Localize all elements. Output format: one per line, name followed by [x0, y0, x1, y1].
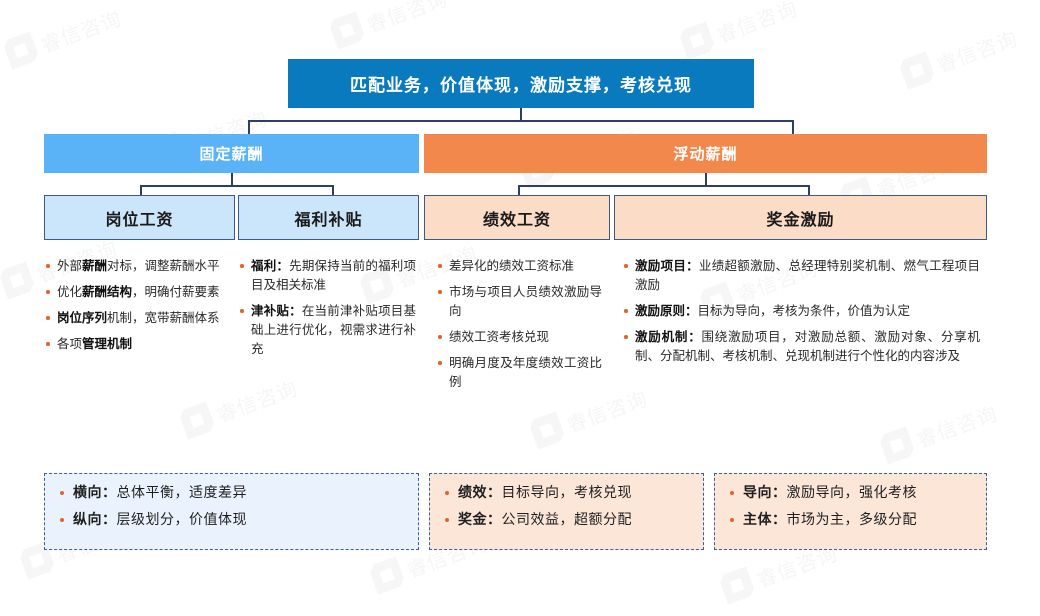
level1-title-box[interactable]: 匹配业务，价值体现，激励支撑，考核兑现 [288, 59, 754, 108]
org-chart-canvas: 睿信咨询 睿信咨询 睿信咨询 睿信咨询 睿信咨询 睿信咨询 睿信咨询 睿信咨询 … [0, 0, 1040, 616]
connector-l1-stem [520, 108, 522, 120]
level3-label-bonus-incentive: 奖金激励 [766, 206, 834, 230]
summary-item: 奖金：公司效益，超额分配 [442, 511, 691, 529]
ruixin-logo-icon [878, 426, 916, 464]
connector-fixed-stem [231, 173, 233, 185]
level2-box-float[interactable]: 浮动薪酬 [424, 134, 987, 173]
level3-box-post-salary[interactable]: 岗位工资 [44, 195, 235, 240]
detail-item: 绩效工资考核兑现 [436, 327, 602, 346]
connector-l1-bar [248, 120, 793, 122]
detail-column-bonus-incentive: 激励项目：业绩超额激励、总经理特别奖机制、燃气工程项目激励激励原则：目标为导向，… [622, 256, 980, 372]
ruixin-logo-icon [368, 556, 406, 594]
ruixin-logo-icon [178, 401, 216, 439]
watermark: 睿信咨询 [878, 396, 1002, 469]
summary-item: 导向：激励导向，强化考核 [727, 484, 974, 502]
detail-item: 差异化的绩效工资标准 [436, 256, 602, 275]
detail-item: 外部薪酬对标，调整薪酬水平 [44, 256, 222, 275]
detail-item: 激励项目：业绩超额激励、总经理特别奖机制、燃气工程项目激励 [622, 256, 980, 294]
detail-item: 激励机制：围绕激励项目，对激励总额、激励对象、分享机制、分配机制、考核机制、兑现… [622, 327, 980, 365]
detail-column-welfare-allowance: 福利：先期保持当前的福利项目及相关标准津补贴：在当前津补贴项目基础上进行优化，视… [238, 256, 416, 365]
ruixin-logo-icon [0, 261, 36, 299]
connector-float-stem [705, 173, 707, 185]
watermark: 睿信咨询 [178, 371, 302, 444]
level1-title-text: 匹配业务，价值体现，激励支撑，考核兑现 [350, 71, 692, 96]
connector-l1-drop-float [792, 120, 794, 135]
level2-label-fixed: 固定薪酬 [199, 143, 263, 164]
detail-list: 差异化的绩效工资标准市场与项目人员绩效激励导向绩效工资考核兑现明确月度及年度绩效… [436, 256, 602, 391]
detail-column-performance-salary: 差异化的绩效工资标准市场与项目人员绩效激励导向绩效工资考核兑现明确月度及年度绩效… [436, 256, 602, 398]
level3-label-post-salary: 岗位工资 [105, 206, 173, 230]
detail-list: 激励项目：业绩超额激励、总经理特别奖机制、燃气工程项目激励激励原则：目标为导向，… [622, 256, 980, 365]
summary-panel-performance: 绩效：目标导向，考核兑现奖金：公司效益，超额分配 [429, 473, 704, 550]
detail-item: 市场与项目人员绩效激励导向 [436, 282, 602, 320]
ruixin-logo-icon [718, 566, 756, 604]
watermark-text: 睿信咨询 [932, 22, 1021, 78]
ruixin-logo-icon [898, 51, 936, 89]
connector-fixed-bar [140, 185, 332, 187]
summary-item: 纵向：层级划分，价值体现 [57, 511, 406, 529]
detail-list: 外部薪酬对标，调整薪酬水平优化薪酬结构，明确付薪要素岗位序列机制，宽带薪酬体系各… [44, 256, 222, 353]
level2-label-float: 浮动薪酬 [673, 143, 737, 164]
detail-item: 各项管理机制 [44, 334, 222, 353]
detail-list: 福利：先期保持当前的福利项目及相关标准津补贴：在当前津补贴项目基础上进行优化，视… [238, 256, 416, 358]
ruixin-logo-icon [678, 21, 716, 59]
detail-item: 明确月度及年度绩效工资比例 [436, 353, 602, 391]
detail-item: 津补贴：在当前津补贴项目基础上进行优化，视需求进行补充 [238, 301, 416, 358]
watermark-text: 睿信咨询 [212, 372, 301, 428]
summary-list: 横向：总体平衡，适度差异纵向：层级划分，价值体现 [57, 484, 406, 529]
level3-box-performance-salary[interactable]: 绩效工资 [424, 195, 610, 240]
level3-box-welfare-allowance[interactable]: 福利补贴 [238, 195, 419, 240]
level3-box-bonus-incentive[interactable]: 奖金激励 [614, 195, 987, 240]
summary-panel-fixed: 横向：总体平衡，适度差异纵向：层级划分，价值体现 [44, 473, 419, 550]
ruixin-logo-icon [328, 11, 366, 49]
summary-list: 绩效：目标导向，考核兑现奖金：公司效益，超额分配 [442, 484, 691, 529]
summary-item: 绩效：目标导向，考核兑现 [442, 484, 691, 502]
summary-item: 主体：市场为主，多级分配 [727, 511, 974, 529]
watermark: 睿信咨询 [678, 0, 802, 63]
watermark-text: 睿信咨询 [712, 0, 801, 48]
watermark: 睿信咨询 [898, 21, 1022, 94]
detail-item: 福利：先期保持当前的福利项目及相关标准 [238, 256, 416, 294]
connector-l1-drop-fixed [248, 120, 250, 135]
detail-item: 岗位序列机制，宽带薪酬体系 [44, 308, 222, 327]
connector-float-bar [518, 185, 808, 187]
watermark: 睿信咨询 [2, 1, 126, 74]
watermark-text: 睿信咨询 [912, 397, 1001, 453]
detail-item: 激励原则：目标为导向，考核为条件，价值为认定 [622, 301, 980, 320]
summary-list: 导向：激励导向，强化考核主体：市场为主，多级分配 [727, 484, 974, 529]
level3-label-welfare-allowance: 福利补贴 [294, 206, 362, 230]
detail-item: 优化薪酬结构，明确付薪要素 [44, 282, 222, 301]
watermark: 睿信咨询 [328, 0, 452, 53]
level2-box-fixed[interactable]: 固定薪酬 [44, 134, 419, 173]
ruixin-logo-icon [2, 31, 40, 69]
summary-panel-bonus: 导向：激励导向，强化考核主体：市场为主，多级分配 [714, 473, 987, 550]
ruixin-logo-icon [528, 411, 566, 449]
level3-label-performance-salary: 绩效工资 [483, 206, 551, 230]
summary-item: 横向：总体平衡，适度差异 [57, 484, 406, 502]
watermark-text: 睿信咨询 [36, 2, 125, 58]
detail-column-post-salary: 外部薪酬对标，调整薪酬水平优化薪酬结构，明确付薪要素岗位序列机制，宽带薪酬体系各… [44, 256, 222, 360]
watermark-text: 睿信咨询 [362, 0, 451, 38]
